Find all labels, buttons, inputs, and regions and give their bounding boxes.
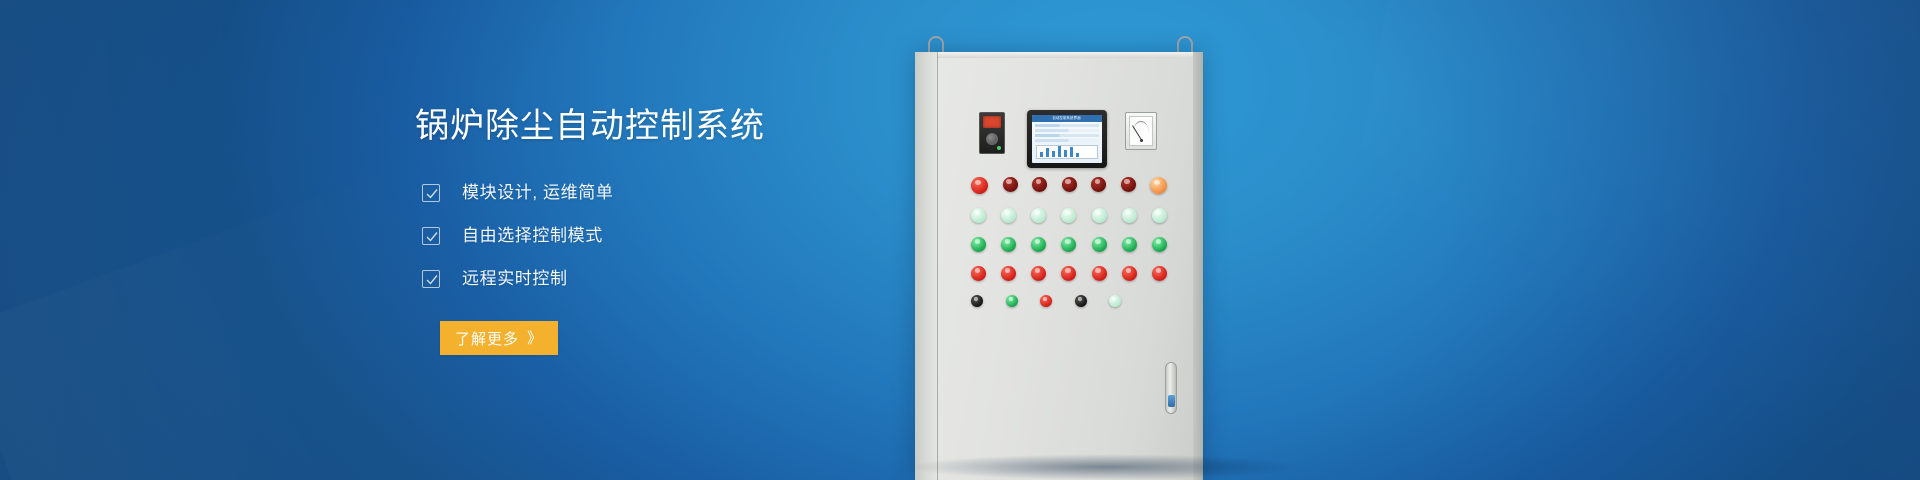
indicator-lamp-red[interactable] xyxy=(971,266,986,281)
checkbox-checked-icon xyxy=(422,184,440,202)
hmi-chart-bar xyxy=(1076,153,1079,157)
push-button-black[interactable] xyxy=(1075,295,1087,307)
indicator-lamp-red[interactable] xyxy=(1031,266,1046,281)
feature-label: 模块设计, 运维简单 xyxy=(462,182,613,204)
hmi-chart-bar xyxy=(1064,150,1067,157)
hmi-chart-bar xyxy=(1058,146,1061,157)
indicator-lamp-red[interactable] xyxy=(1001,266,1016,281)
lamp-row xyxy=(971,266,1167,281)
hmi-chart-bar xyxy=(1046,148,1049,157)
feature-label: 远程实时控制 xyxy=(462,268,568,290)
hmi-row xyxy=(1035,139,1099,142)
rotary-knob-icon xyxy=(986,133,998,145)
control-cabinet-body: 自动控制系统界面 xyxy=(915,52,1203,480)
lamp-row xyxy=(971,177,1167,194)
indicator-lamp-green[interactable] xyxy=(1092,237,1107,252)
indicator-lamp-green[interactable] xyxy=(1031,237,1046,252)
checkbox-checked-icon xyxy=(422,227,440,245)
indicator-lamp-mint[interactable] xyxy=(1001,208,1016,223)
analog-gauge xyxy=(1125,112,1157,150)
hmi-title-bar: 自动控制系统界面 xyxy=(1032,115,1102,122)
indicator-lamp-red[interactable] xyxy=(1122,266,1137,281)
indicator-lamp-green[interactable] xyxy=(1001,237,1016,252)
lamp-row xyxy=(971,208,1167,223)
hmi-screen: 自动控制系统界面 xyxy=(1032,115,1102,163)
indicator-lamp-mint[interactable] xyxy=(1061,208,1076,223)
indicator-lamp-green[interactable] xyxy=(1061,237,1076,252)
indicator-lamp-green[interactable] xyxy=(1122,237,1137,252)
hmi-touch-panel[interactable]: 自动控制系统界面 xyxy=(1027,110,1107,168)
hmi-data-rows xyxy=(1032,122,1102,146)
indicator-lamp-red[interactable] xyxy=(971,177,988,194)
push-button-black[interactable] xyxy=(971,295,983,307)
lamp-row xyxy=(971,237,1167,252)
digital-readout xyxy=(983,116,1001,128)
feature-list: 模块设计, 运维简单 自由选择控制模式 远程实时控制 xyxy=(415,176,935,295)
banner-copy: 锅炉除尘自动控制系统 模块设计, 运维简单 自由选择控制模式 xyxy=(415,104,935,355)
hmi-title-text: 自动控制系统界面 xyxy=(1053,117,1081,120)
indicator-lamp-dark-red[interactable] xyxy=(1091,177,1106,192)
indicator-lamp-mint[interactable] xyxy=(971,208,986,223)
hmi-chart-bar xyxy=(1070,147,1073,157)
feature-label: 自由选择控制模式 xyxy=(462,225,603,247)
learn-more-button[interactable]: 了解更多 》 xyxy=(440,321,558,355)
hmi-row xyxy=(1035,134,1099,137)
feature-list-item: 自由选择控制模式 xyxy=(415,219,935,252)
indicator-lamp-mint[interactable] xyxy=(1031,208,1046,223)
indicator-lamp-mint[interactable] xyxy=(1152,208,1167,223)
cabinet-door-handle[interactable] xyxy=(1165,362,1177,414)
hmi-chart xyxy=(1036,145,1098,159)
feature-list-item: 模块设计, 运维简单 xyxy=(415,176,935,209)
indicator-lamp-dark-red[interactable] xyxy=(1003,177,1018,192)
control-cabinet-image: 自动控制系统界面 xyxy=(900,0,1300,480)
cabinet-door-seam xyxy=(937,52,938,480)
indicator-lamp-red[interactable] xyxy=(1061,266,1076,281)
cabinet-top-edge xyxy=(915,52,1203,58)
indicator-lamp-green[interactable] xyxy=(1006,295,1018,307)
indicator-lamp-red[interactable] xyxy=(1040,295,1052,307)
hmi-row xyxy=(1035,129,1099,132)
learn-more-label: 了解更多 xyxy=(455,328,519,349)
indicator-lamp-mint[interactable] xyxy=(1109,295,1121,307)
indicator-lamp-red[interactable] xyxy=(1152,266,1167,281)
indicator-lamp-green[interactable] xyxy=(1152,237,1167,252)
status-led-icon xyxy=(997,146,1001,150)
hero-banner: 锅炉除尘自动控制系统 模块设计, 运维简单 自由选择控制模式 xyxy=(0,0,1920,480)
hmi-chart-bar xyxy=(1052,151,1055,157)
indicator-lamp-green[interactable] xyxy=(971,237,986,252)
indicator-lamp-red[interactable] xyxy=(1092,266,1107,281)
gauge-pivot xyxy=(1140,139,1143,142)
cabinet-right-edge xyxy=(1193,52,1203,480)
checkbox-checked-icon xyxy=(422,270,440,288)
light-streak-decoration xyxy=(1279,0,1920,480)
hmi-chart-bar xyxy=(1040,152,1043,157)
double-chevron-right-icon: 》 xyxy=(527,331,543,346)
indicator-lamp-dark-red[interactable] xyxy=(1121,177,1136,192)
indicator-lamp-grid xyxy=(971,177,1167,321)
indicator-lamp-orange[interactable] xyxy=(1150,177,1167,194)
indicator-lamp-mint[interactable] xyxy=(1092,208,1107,223)
gauge-face xyxy=(1129,116,1153,146)
lock-icon xyxy=(1168,395,1175,407)
banner-headline: 锅炉除尘自动控制系统 xyxy=(415,104,935,148)
cabinet-left-edge xyxy=(915,52,937,480)
hmi-row xyxy=(1035,124,1099,127)
indicator-lamp-mint[interactable] xyxy=(1122,208,1137,223)
indicator-lamp-dark-red[interactable] xyxy=(1032,177,1047,192)
lamp-row xyxy=(971,295,1121,307)
feature-list-item: 远程实时控制 xyxy=(415,262,935,295)
indicator-lamp-dark-red[interactable] xyxy=(1062,177,1077,192)
digital-display-module xyxy=(979,112,1005,154)
